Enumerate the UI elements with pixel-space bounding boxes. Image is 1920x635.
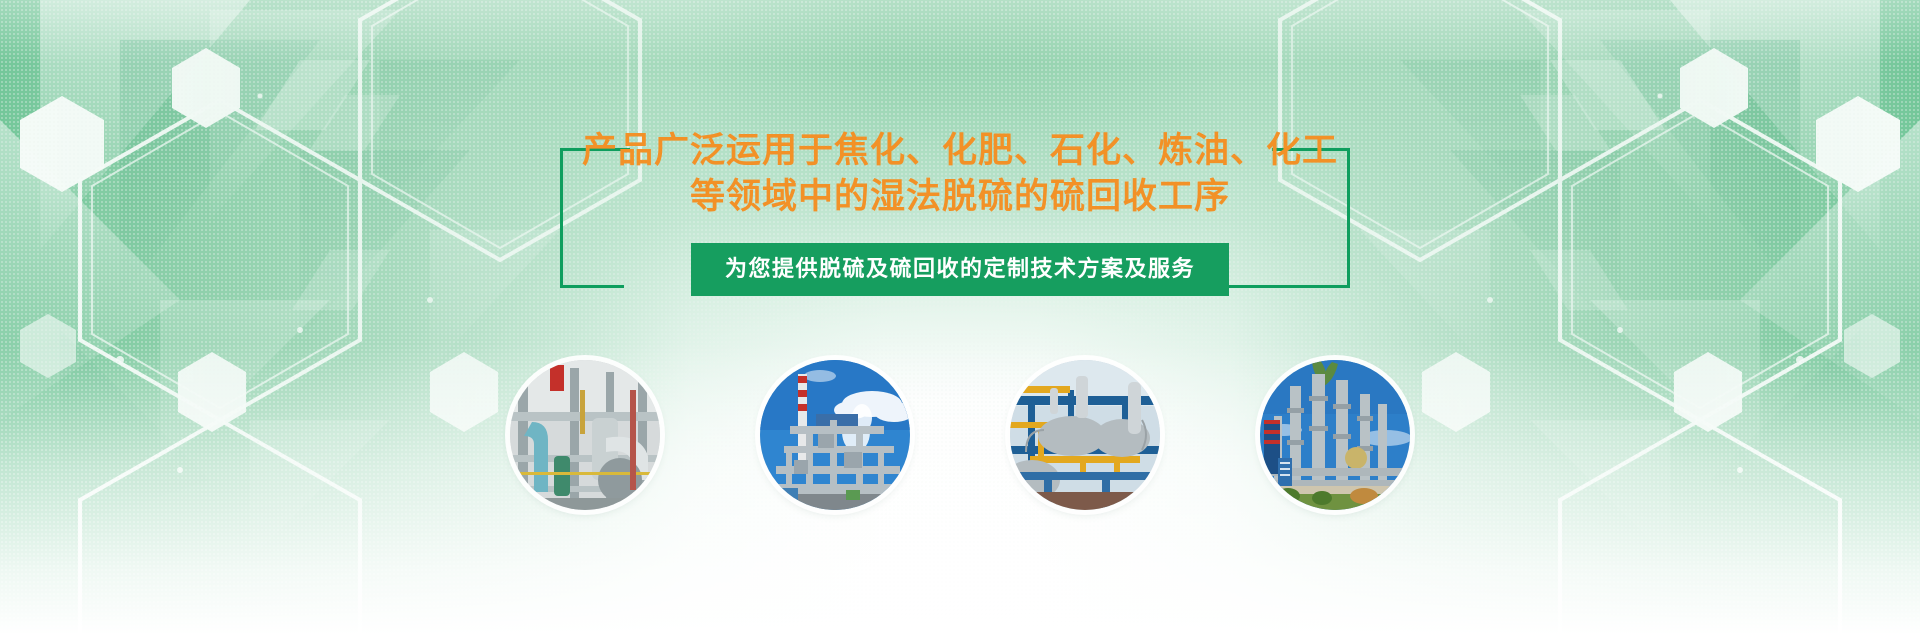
photo-desulfurization-piping[interactable] (510, 360, 660, 510)
bracket-bottom-left-segment (560, 285, 624, 288)
banner-headline: 产品广泛运用于焦化、化肥、石化、炼油、化工 等领域中的湿法脱硫的硫回收工序 (0, 128, 1920, 220)
promo-banner: 产品广泛运用于焦化、化肥、石化、炼油、化工 等领域中的湿法脱硫的硫回收工序 为您… (0, 0, 1920, 635)
photo-thumbnail-row (510, 360, 1410, 510)
headline-line-1: 产品广泛运用于焦化、化肥、石化、炼油、化工 (582, 131, 1338, 170)
photo-storage-tanks-platform[interactable] (1010, 360, 1160, 510)
photo-refinery-towers[interactable] (1260, 360, 1410, 510)
banner-subtitle-ribbon: 为您提供脱硫及硫回收的定制技术方案及服务 (691, 243, 1229, 296)
bracket-bottom-right-segment (1210, 285, 1350, 288)
headline-line-2: 等领域中的湿法脱硫的硫回收工序 (0, 174, 1920, 220)
photo-power-plant-chimney[interactable] (760, 360, 910, 510)
